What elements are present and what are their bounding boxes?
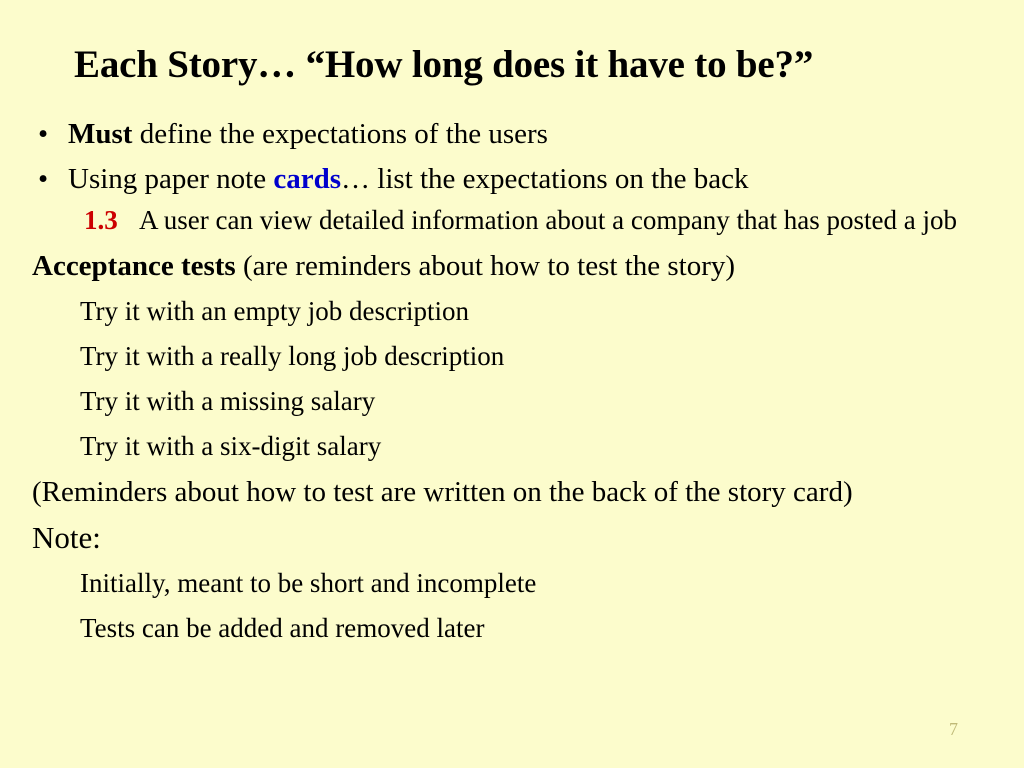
slide-body: • Must define the expectations of the us…: [0, 112, 1024, 651]
page-number: 7: [949, 719, 958, 740]
bullet-post-text: … list the expectations on the back: [341, 163, 749, 195]
note-item: Initially, meant to be short and incompl…: [0, 561, 1024, 606]
bullet-pre-text: Using paper note: [68, 163, 273, 195]
acceptance-tests-heading: Acceptance tests (are reminders about ho…: [0, 243, 1024, 289]
note-heading: Note:: [0, 515, 1024, 561]
bullet-lead-bold: Must: [68, 118, 132, 150]
highlight-cards: cards: [273, 163, 341, 195]
story-text: A user can view detailed information abo…: [139, 205, 957, 235]
acceptance-tests-label: Acceptance tests: [32, 250, 236, 282]
bullet-rest-text: define the expectations of the users: [132, 118, 548, 150]
acceptance-test-item: Try it with an empty job description: [0, 289, 1024, 334]
reminder-note-text: (Reminders about how to test are written…: [0, 469, 1024, 515]
bullet-item-must: • Must define the expectations of the us…: [0, 112, 1024, 157]
bullet-item-cards: • Using paper note cards… list the expec…: [0, 157, 1024, 202]
slide-canvas: Each Story… “How long does it have to be…: [0, 0, 1024, 768]
story-number: 1.3: [84, 202, 118, 239]
acceptance-test-item: Try it with a really long job descriptio…: [0, 334, 1024, 379]
bullet-icon: •: [38, 112, 48, 157]
acceptance-tests-note: (are reminders about how to test the sto…: [236, 250, 735, 282]
acceptance-test-item: Try it with a missing salary: [0, 379, 1024, 424]
note-item: Tests can be added and removed later: [0, 606, 1024, 651]
story-item-1-3: 1.3 A user can view detailed information…: [0, 202, 1024, 239]
page-title: Each Story… “How long does it have to be…: [74, 44, 974, 86]
acceptance-test-item: Try it with a six-digit salary: [0, 424, 1024, 469]
bullet-icon: •: [38, 157, 48, 202]
